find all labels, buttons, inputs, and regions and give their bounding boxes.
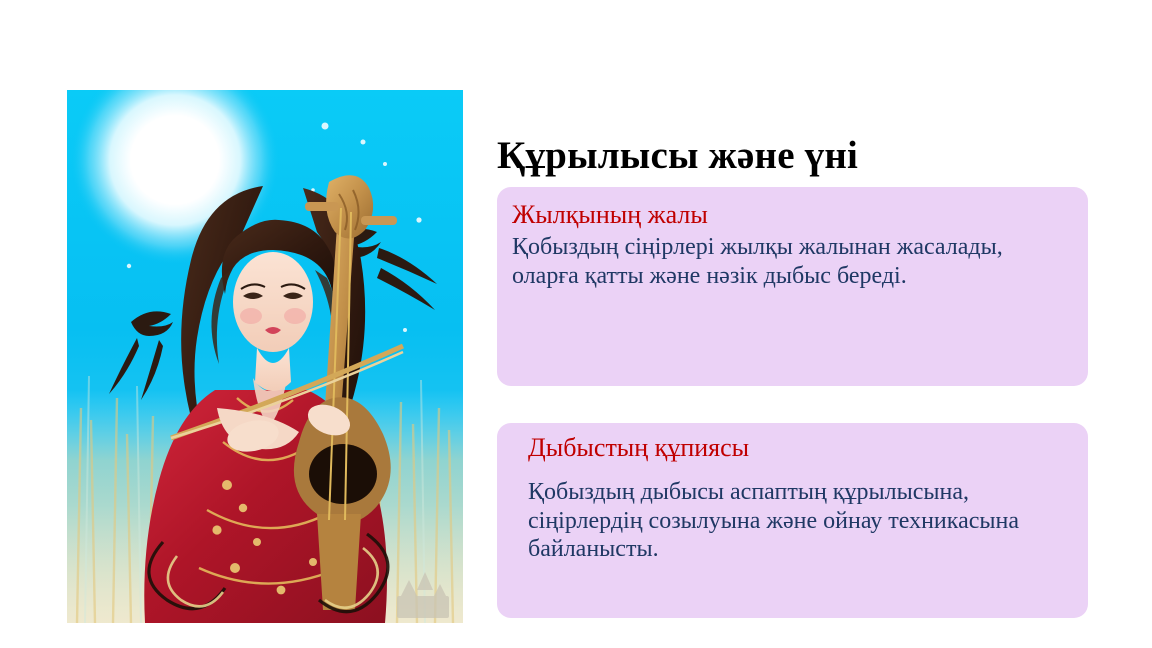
card-body-text: Қобыздың дыбысы аспаптың құрылысына, сің… xyxy=(528,478,1068,564)
slide-canvas: Құрылысы және үні Жылқының жалы Қобыздың… xyxy=(0,0,1152,648)
page-title: Құрылысы және үні xyxy=(497,136,1097,177)
card-heading: Дыбыстың құпиясы xyxy=(528,432,1068,464)
kobyz-player-illustration xyxy=(67,90,463,623)
info-card-zhylqynyn-zhaly: Жылқының жалы Қобыздың сіңірлері жылқы ж… xyxy=(497,187,1088,386)
card-heading: Жылқының жалы xyxy=(512,199,1068,231)
card-body-text: Қобыздың сіңірлері жылқы жалынан жасалад… xyxy=(512,233,1012,291)
info-card-dybystyn-qupiyasy: Дыбыстың құпиясы Қобыздың дыбысы аспапты… xyxy=(497,423,1088,618)
